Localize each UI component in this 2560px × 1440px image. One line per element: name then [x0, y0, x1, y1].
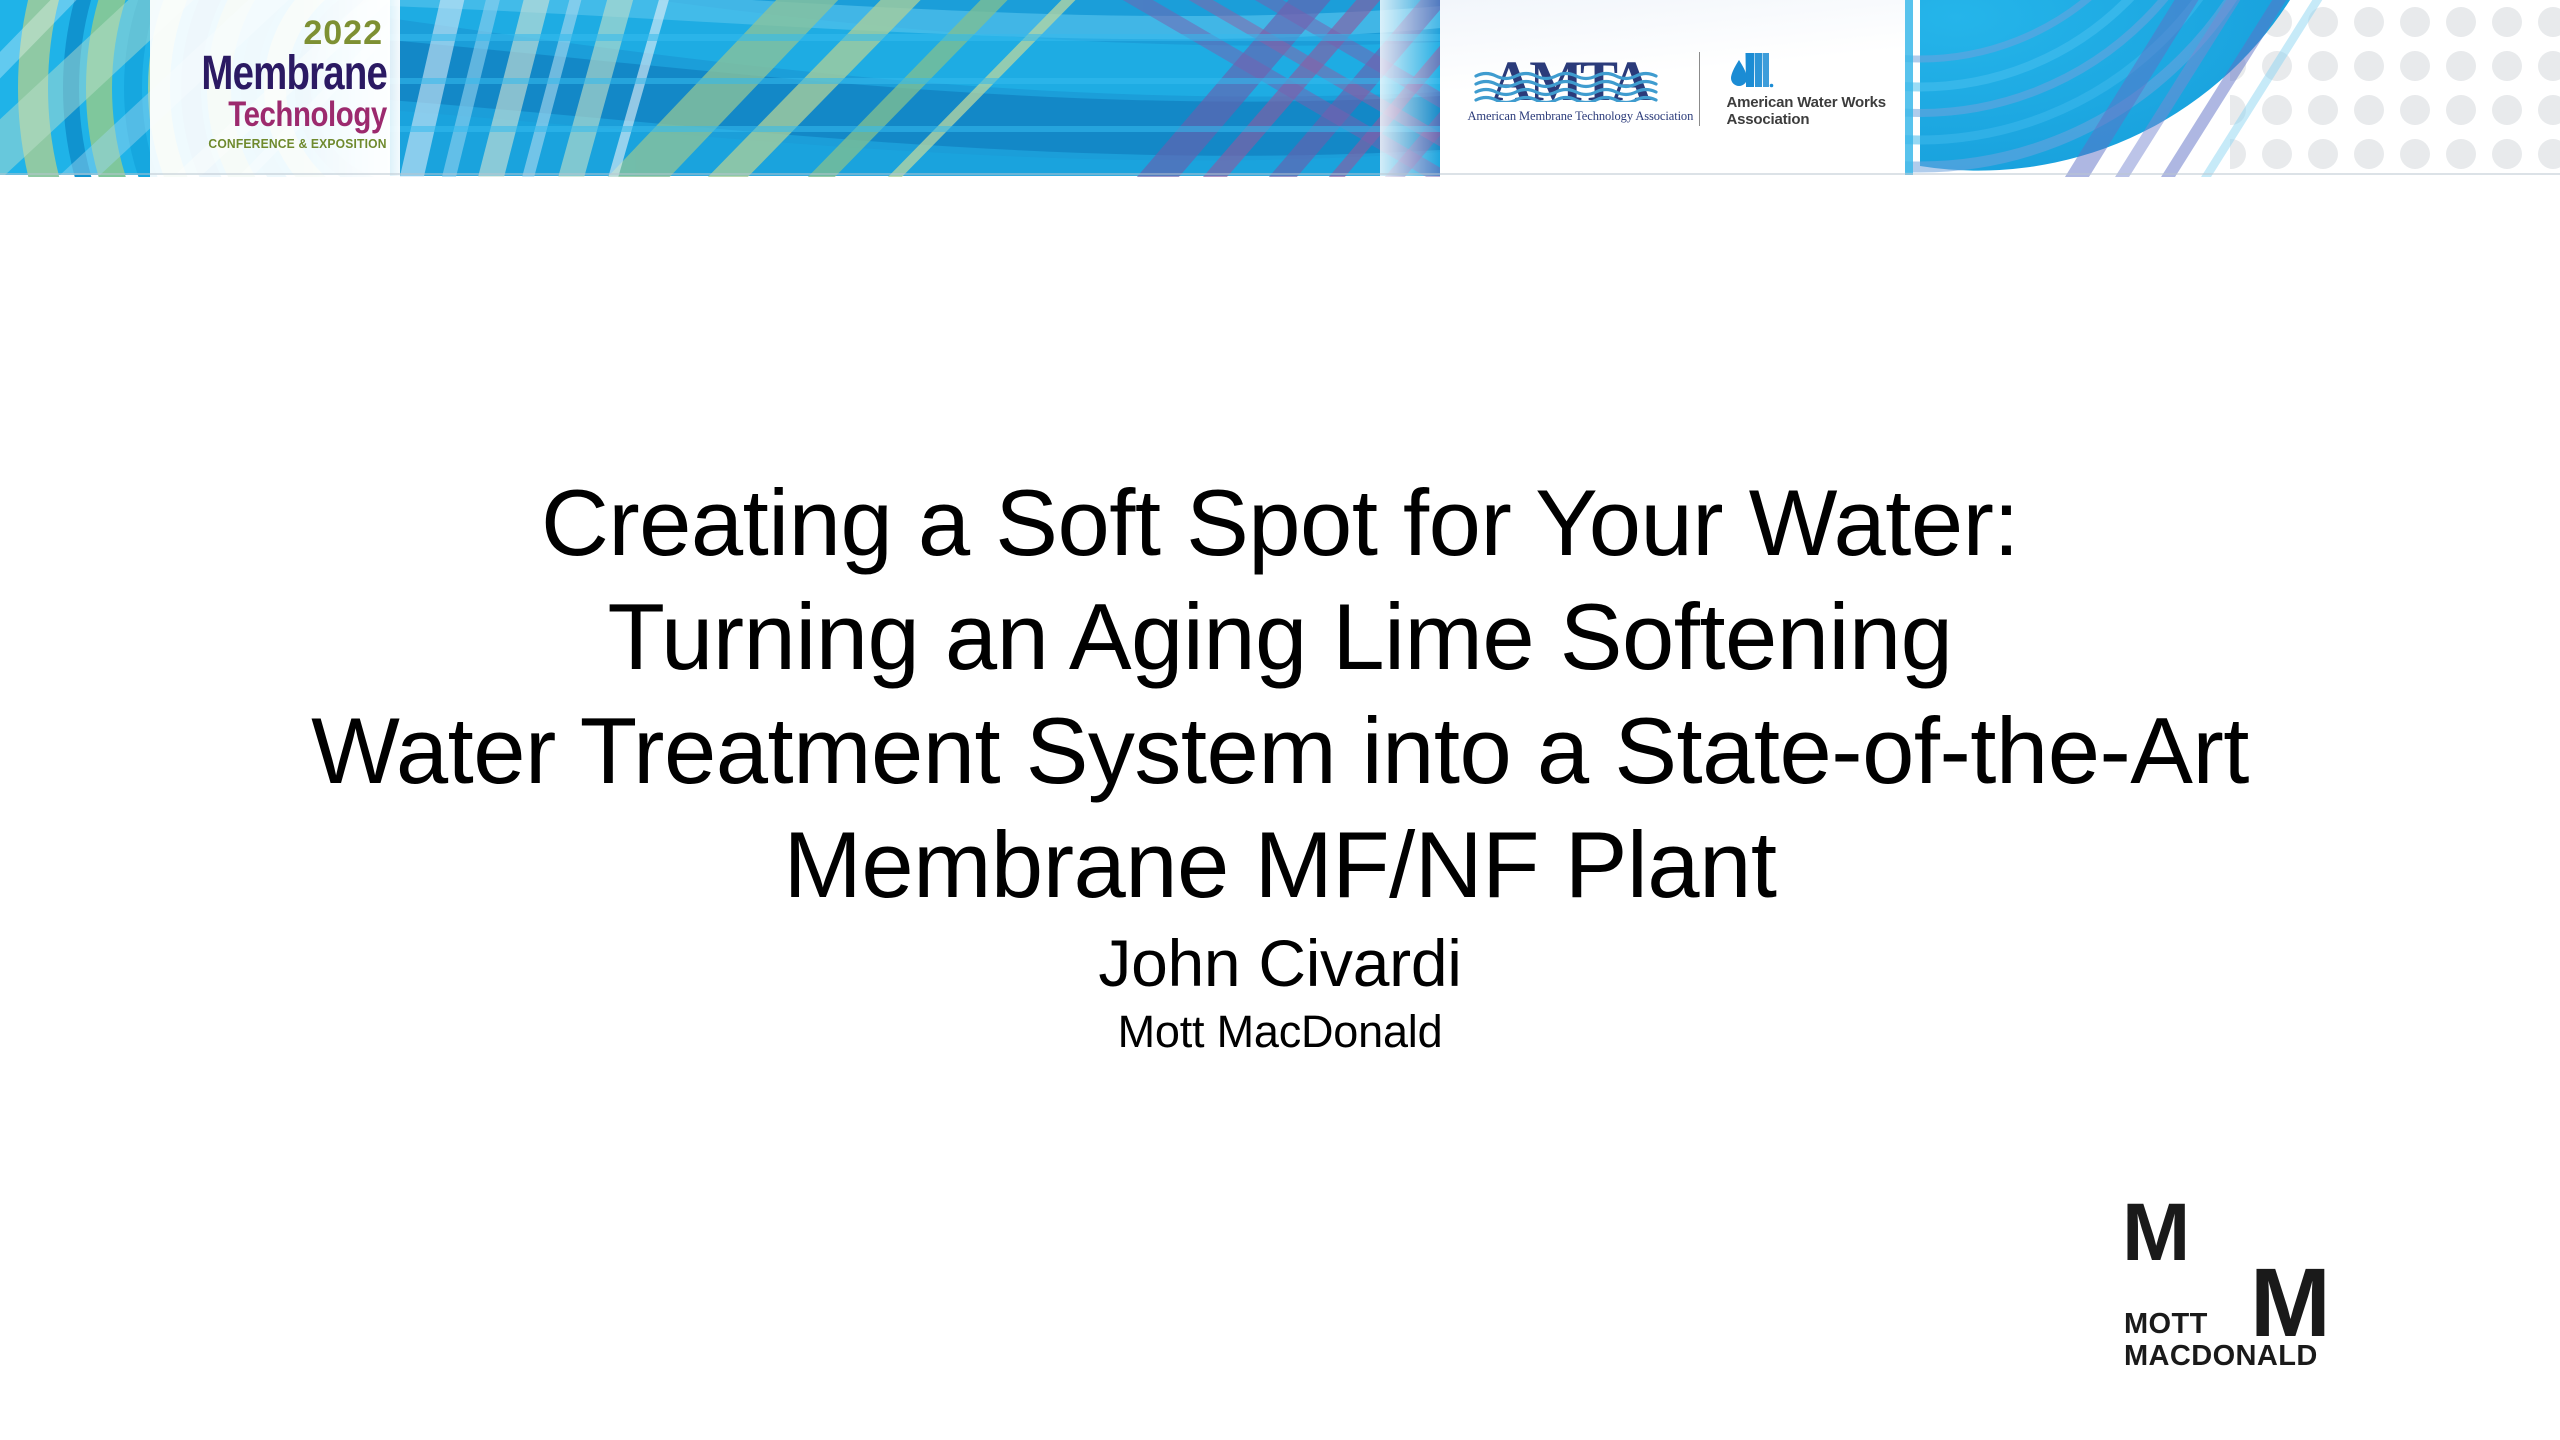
mott-logo-word-mott: MOTT	[2124, 1310, 2208, 1339]
awwa-name-line1: American Water Works	[1727, 94, 1886, 112]
presenter-name: John Civardi	[0, 930, 2560, 996]
logo-divider	[1699, 52, 1700, 126]
amta-full-name: American Membrane Technology Association	[1468, 109, 1673, 124]
membrane-technology-conference-logo: 2022 Membrane Technology CONFERENCE & EX…	[152, 0, 389, 177]
mott-logo-letter-bottom: M	[2250, 1254, 2329, 1351]
mott-logo-word-macdonald: MACDONALD	[2124, 1342, 2318, 1371]
presenter-affiliation: Mott MacDonald	[0, 1009, 2560, 1054]
awwa-name-line2: Association	[1727, 111, 1886, 129]
slide-title: Creating a Soft Spot for Your Water: Tur…	[0, 466, 2560, 922]
conference-banner: 2022 Membrane Technology CONFERENCE & EX…	[0, 0, 2560, 177]
mott-macdonald-logo: M M MOTT MACDONALD	[2122, 1192, 2352, 1378]
association-logos: AMTA American Membrane Technology Associ…	[1440, 0, 1905, 177]
conference-logo-tagline: CONFERENCE & EXPOSITION	[209, 137, 387, 150]
amta-logo: AMTA American Membrane Technology Associ…	[1468, 53, 1673, 125]
title-line-2: Turning an Aging Lime Softening	[0, 580, 2560, 694]
awwa-logo: American Water Works Association	[1726, 52, 1878, 126]
title-line-1: Creating a Soft Spot for Your Water:	[0, 466, 2560, 580]
mott-logo-letter-top: M	[2122, 1192, 2188, 1274]
conference-logo-membrane: Membrane	[201, 52, 387, 96]
awwa-full-name: American Water Works Association	[1727, 94, 1886, 129]
conference-logo-technology: Technology	[228, 97, 387, 132]
title-line-4: Membrane MF/NF Plant	[0, 808, 2560, 922]
conference-logo-year: 2022	[303, 16, 383, 50]
awwa-waterdrop-mark	[1728, 52, 1774, 90]
amta-wave-lines	[1474, 70, 1670, 102]
title-line-3: Water Treatment System into a State-of-t…	[0, 694, 2560, 808]
